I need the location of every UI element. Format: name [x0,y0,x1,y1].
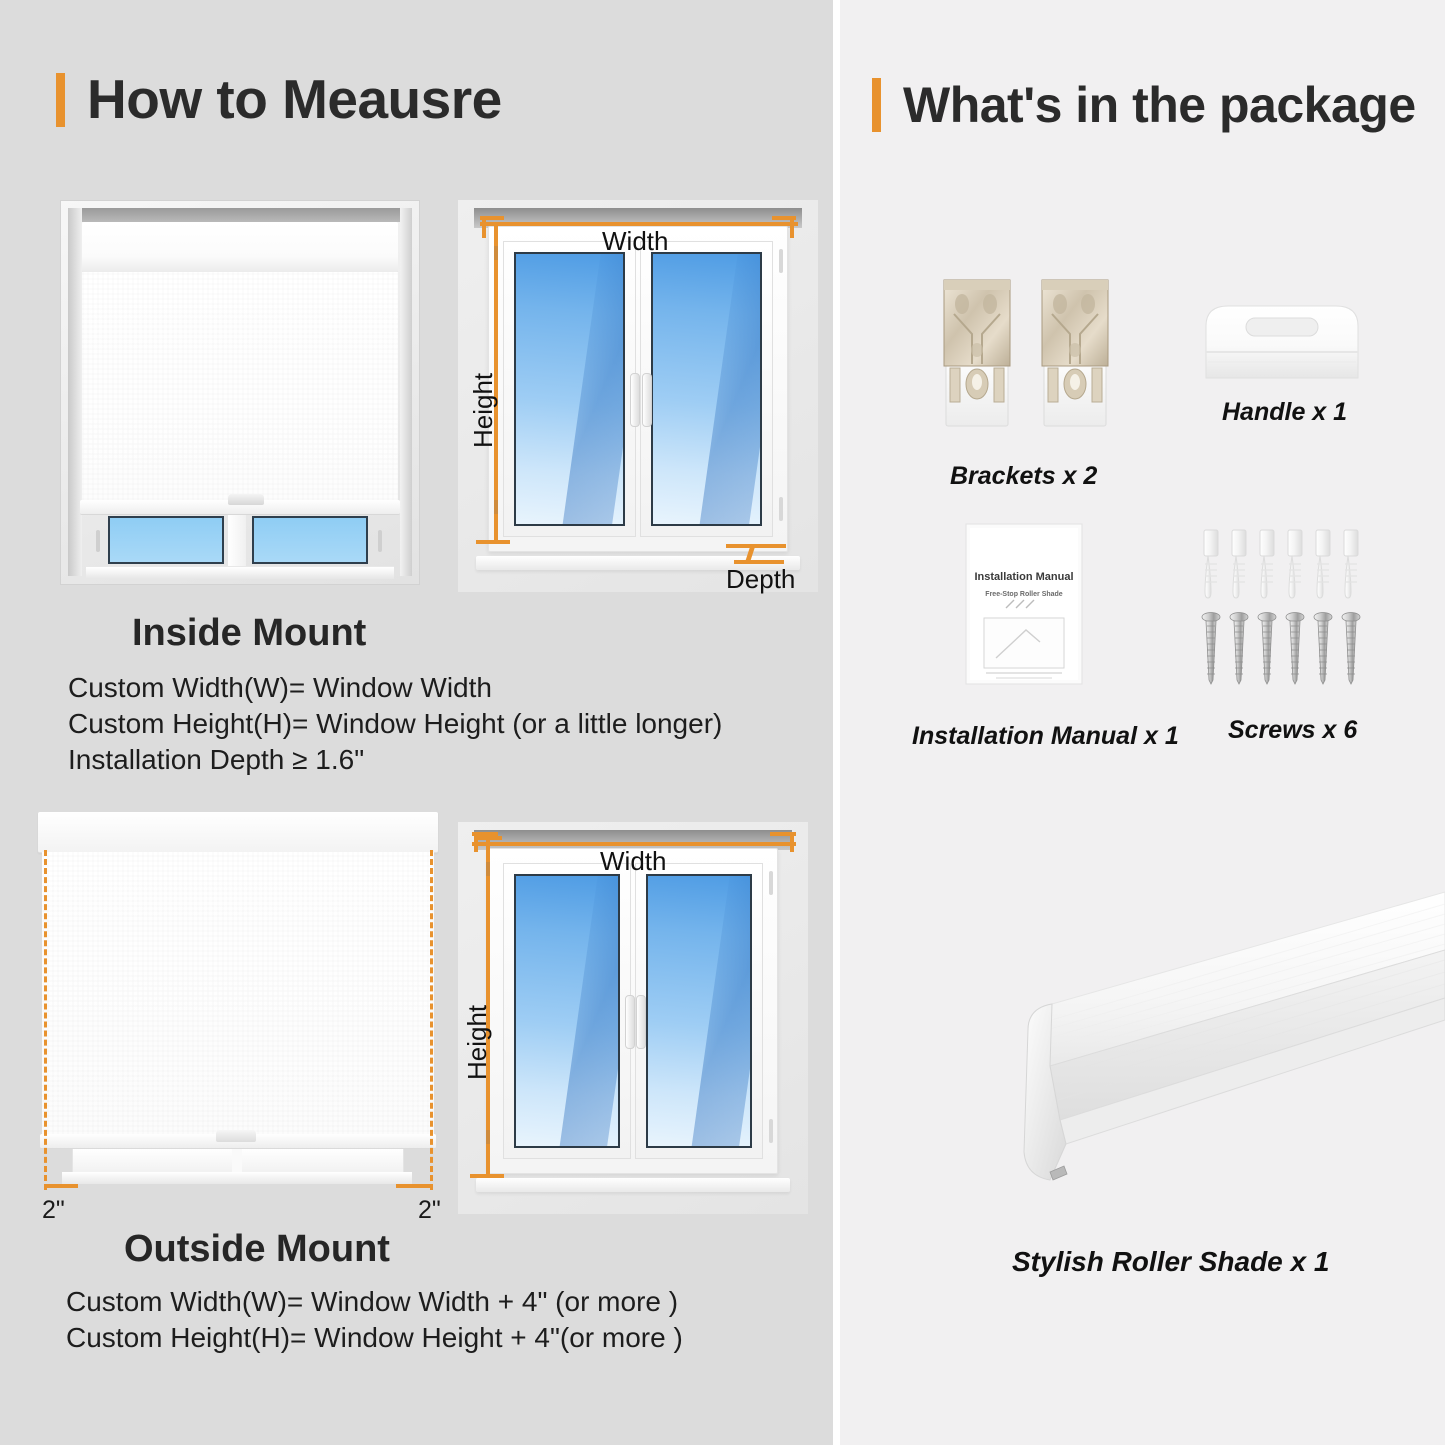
shade-fabric [82,272,398,500]
overhang-mark-left [44,1184,78,1188]
width-mark-right-tick [790,216,794,238]
height-mark-bottom-cap [470,1174,504,1178]
sash-handle-left [630,373,640,427]
width-label: Width [600,846,666,877]
hinge-bottom-right [779,497,783,521]
accent-bar-left [56,73,65,127]
overhang-guide-left [44,850,47,1190]
outside-mount-spec-1: Custom Width(W)= Window Width + 4" (or m… [66,1286,678,1318]
overhang-right-label: 2" [418,1196,441,1225]
inside-mount-shade-illustration [60,200,420,585]
package-heading: What's in the package [872,78,1416,132]
glass-glare [685,874,752,1148]
overhang-guide-right [430,850,433,1190]
infographic-page: How to Meausre [0,0,1445,1445]
brackets-label: Brackets x 2 [950,462,1097,491]
depth-label: Depth [726,564,795,595]
panel-divider [833,0,840,1445]
width-mark-left-tick [474,832,478,852]
window-handle-right [378,530,382,552]
height-tick-lower [494,500,498,514]
handle-label: Handle x 1 [1222,398,1347,427]
height-label: Height [462,1005,493,1080]
shade-grip-handle [228,494,264,505]
outside-mount-window-diagram: Width Height [458,822,808,1214]
window-glass-right [252,516,368,564]
sash-handle-left [625,995,635,1049]
inside-mount-title: Inside Mount [132,612,366,655]
window-sill [476,1178,790,1192]
roller-shade-label: Stylish Roller Shade x 1 [1012,1246,1329,1278]
window-frame [488,226,788,552]
shade-headrail [38,812,438,853]
roller-shade-icon [900,880,1445,1210]
recess-right [400,208,412,576]
window-glass-right [646,874,752,1148]
shade-headrail [82,222,398,273]
recess-top [70,208,410,222]
outside-mount-shade-illustration [38,812,448,1202]
window-glass-left [514,874,620,1148]
width-mark-right-tick [790,832,794,852]
window-sash-left [503,241,636,537]
window-handle-left [96,530,100,552]
window-glass-right [651,252,762,526]
installation-manual-label: Installation Manual x 1 [912,722,1179,751]
recess-left [68,208,82,576]
manual-cover-subtitle: Free-Stop Roller Shade [985,591,1063,598]
overhang-left-label: 2" [42,1196,65,1225]
glass-glare [553,874,620,1148]
sash-handle-right [642,373,652,427]
sash-handle-right [636,995,646,1049]
window-sash-right [640,241,773,537]
depth-mark-top [726,544,786,548]
shade-fabric [42,852,434,1137]
glass-glare [556,252,625,526]
screws-label: Screws x 6 [1228,716,1357,745]
how-to-measure-heading: How to Meausre [56,72,502,127]
hinge-top-right [779,249,783,273]
window-sash-divider [228,512,246,574]
height-tick-upper [494,246,498,260]
window-sash-divider [232,1148,242,1174]
height-tick-lower [486,1130,490,1144]
screw-icon [1198,524,1378,694]
inside-mount-spec-3: Installation Depth ≥ 1.6" [68,744,364,776]
window-glass-left [514,252,625,526]
how-to-measure-title: How to Meausre [87,72,502,127]
width-mark-left-tick [482,216,486,238]
outside-mount-spec-2: Custom Height(H)= Window Height + 4"(or … [66,1322,683,1354]
inside-mount-spec-2: Custom Height(H)= Window Height (or a li… [68,708,722,740]
window-glass-left [108,516,224,564]
height-label: Height [468,373,499,448]
hinge-bottom-right [769,1119,773,1143]
width-label: Width [602,226,668,257]
package-title: What's in the package [903,80,1416,130]
accent-bar-right [872,78,881,132]
shade-grip-handle [216,1130,256,1142]
window-sill [62,1172,412,1184]
window-sash-left [503,863,631,1159]
handle-icon [1198,300,1366,382]
height-mark-top-cap [484,222,508,226]
height-mark-top-cap [474,836,502,840]
overhang-mark-right [396,1184,432,1188]
outside-mount-title: Outside Mount [124,1228,390,1271]
window-sill [86,566,394,579]
height-mark-bottom-cap [476,540,510,544]
inside-mount-window-diagram: Width Height Depth [458,200,818,592]
manual-cover-title: Installation Manual [974,571,1073,583]
bracket-icon [932,272,1122,452]
hinge-top-right [769,871,773,895]
window-sash-right [635,863,763,1159]
inside-mount-spec-1: Custom Width(W)= Window Width [68,672,492,704]
glass-glare [693,252,762,526]
height-tick-upper [486,862,490,876]
window-frame [488,848,778,1174]
manual-icon: Installation Manual Free-Stop Roller Sha… [962,522,1086,688]
